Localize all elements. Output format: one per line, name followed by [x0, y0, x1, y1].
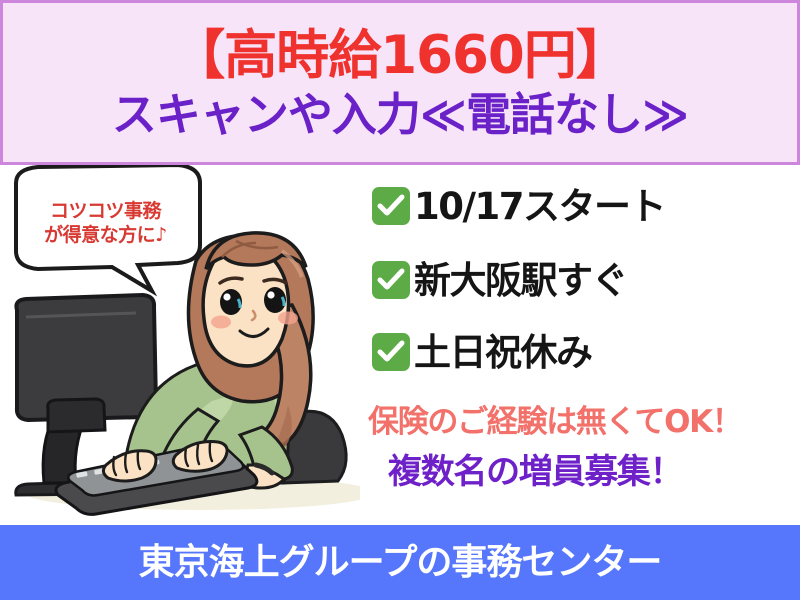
features-column: 10/17スタート 新大阪駅すぐ 土日祝休み 保険のご経験は無くてO: [360, 165, 800, 525]
feature-label: 10/17スタート: [414, 188, 665, 225]
header-headline-wage: 【高時給1660円】: [172, 28, 628, 83]
illustration-svg: [0, 165, 360, 525]
feature-item-start-date: 10/17スタート: [372, 187, 665, 225]
illustration-woman-at-computer: コツコツ事務 が得意な方に♪: [0, 165, 360, 525]
footer-banner: 東京海上グループの事務センター: [0, 525, 800, 600]
feature-item-holidays: 土日祝休み: [372, 333, 592, 371]
job-advertisement-poster: 【高時給1660円】 スキャンや入力≪電話なし≫: [0, 0, 800, 600]
feature-label: 土日祝休み: [414, 334, 592, 371]
header-banner: 【高時給1660円】 スキャンや入力≪電話なし≫: [0, 0, 800, 165]
header-headline-task: スキャンや入力≪電話なし≫: [112, 92, 688, 139]
feature-item-station: 新大阪駅すぐ: [372, 261, 627, 299]
green-check-icon: [372, 333, 410, 371]
main-content: コツコツ事務 が得意な方に♪ 10/17スタート: [0, 165, 800, 525]
highlight-no-experience-needed: 保険のご経験は無くてOK！: [368, 407, 798, 438]
footer-company-name: 東京海上グループの事務センター: [139, 545, 662, 581]
green-check-icon: [372, 261, 410, 299]
highlight-multiple-openings: 複数名の増員募集！: [388, 455, 800, 489]
feature-label: 新大阪駅すぐ: [414, 262, 627, 299]
green-check-icon: [372, 187, 410, 225]
